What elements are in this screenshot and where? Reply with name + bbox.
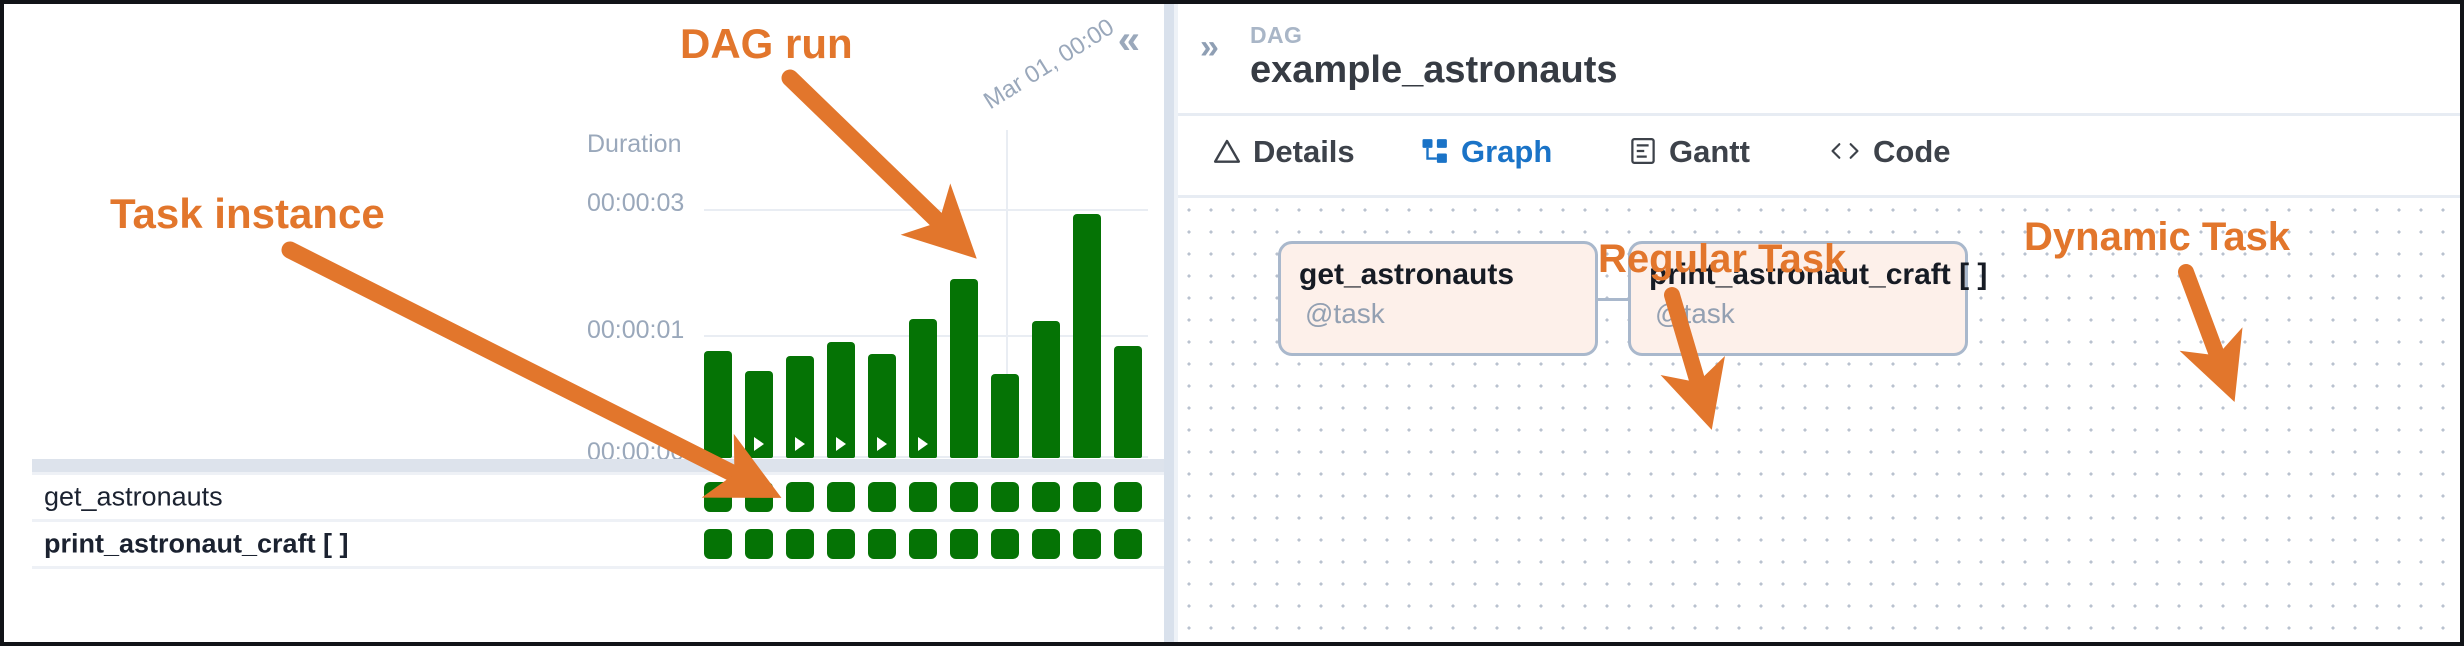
play-triangle-icon: [918, 437, 928, 451]
task-instance-square[interactable]: [909, 482, 937, 512]
dag-header: » DAG example_astronauts: [1178, 4, 2460, 116]
tab-details-label: Details: [1253, 134, 1355, 170]
y-tick-1: 00:00:01: [587, 316, 684, 345]
duration-axis-title: Duration: [587, 130, 682, 159]
task-instance-square[interactable]: [704, 529, 732, 559]
task-instance-square[interactable]: [1032, 482, 1060, 512]
graph-node-get-astronauts[interactable]: get_astronauts @task: [1278, 241, 1598, 356]
task-instance-square[interactable]: [991, 529, 1019, 559]
tab-graph[interactable]: Graph: [1420, 134, 1552, 196]
task-instance-square[interactable]: [827, 482, 855, 512]
tab-code-label: Code: [1873, 134, 1951, 170]
node-type: @task: [1305, 298, 1385, 330]
warning-triangle-icon: [1212, 134, 1242, 168]
dag-kicker-label: DAG: [1250, 22, 1302, 49]
task-instance-square[interactable]: [786, 529, 814, 559]
task-row[interactable]: print_astronaut_craft [ ]: [32, 522, 1164, 569]
task-instance-square[interactable]: [909, 529, 937, 559]
annotation-task-instance: Task instance: [110, 190, 385, 238]
panel-divider[interactable]: [1164, 4, 1178, 642]
task-instance-square[interactable]: [950, 482, 978, 512]
page-title: example_astronauts: [1250, 49, 1618, 92]
dag-run-bar[interactable]: [868, 354, 896, 458]
dag-run-bar[interactable]: [1032, 321, 1060, 458]
code-brackets-icon: [1828, 134, 1862, 168]
node-type: @task: [1655, 298, 1735, 330]
task-instance-square[interactable]: [1073, 482, 1101, 512]
dag-run-bar[interactable]: [786, 356, 814, 458]
play-triangle-icon: [754, 437, 764, 451]
task-instance-strip: [704, 529, 1155, 559]
tab-details[interactable]: Details: [1212, 134, 1355, 196]
dag-run-bar[interactable]: [827, 342, 855, 458]
task-instance-square[interactable]: [868, 529, 896, 559]
task-instance-square[interactable]: [786, 482, 814, 512]
play-triangle-icon: [836, 437, 846, 451]
task-instance-square[interactable]: [745, 482, 773, 512]
annotation-dag-run: DAG run: [680, 20, 853, 68]
task-row-label: print_astronaut_craft [ ]: [44, 529, 349, 560]
task-instance-square[interactable]: [1114, 529, 1142, 559]
dag-run-bar[interactable]: [1073, 214, 1101, 458]
tab-bar: Details Graph: [1178, 116, 2460, 198]
dag-run-bar[interactable]: [950, 279, 978, 458]
y-tick-3: 00:00:03: [587, 189, 684, 218]
task-instance-square[interactable]: [1114, 482, 1142, 512]
dag-run-bar[interactable]: [1114, 346, 1142, 458]
task-row-label: get_astronauts: [44, 482, 223, 513]
dag-run-bar[interactable]: [704, 351, 732, 458]
dag-detail-panel: » DAG example_astronauts Details: [1178, 4, 2460, 642]
annotation-dynamic-task: Dynamic Task: [2024, 215, 2290, 260]
graph-edge: [1598, 298, 1628, 301]
duration-bar-chart: [704, 130, 1156, 458]
task-instance-square[interactable]: [827, 529, 855, 559]
tab-code[interactable]: Code: [1828, 134, 1951, 196]
task-instance-strip: [704, 482, 1155, 512]
tab-gantt-label: Gantt: [1669, 134, 1750, 170]
task-instance-square[interactable]: [991, 482, 1019, 512]
tab-gantt[interactable]: Gantt: [1628, 134, 1750, 196]
graph-nodes-icon: [1420, 134, 1450, 168]
dag-run-bar[interactable]: [745, 371, 773, 458]
play-triangle-icon: [795, 437, 805, 451]
tab-graph-label: Graph: [1461, 134, 1552, 170]
expand-panel-icon[interactable]: »: [1200, 28, 1217, 67]
task-row[interactable]: get_astronauts: [32, 475, 1164, 522]
play-triangle-icon: [877, 437, 887, 451]
collapse-panel-icon[interactable]: «: [1118, 20, 1138, 60]
task-instance-square[interactable]: [1073, 529, 1101, 559]
annotation-regular-task: Regular Task: [1598, 237, 1846, 282]
task-instance-square[interactable]: [745, 529, 773, 559]
task-instance-square[interactable]: [1032, 529, 1060, 559]
node-name: get_astronauts: [1299, 258, 1514, 292]
dag-run-bar[interactable]: [991, 374, 1019, 458]
gantt-chart-icon: [1628, 134, 1658, 168]
screenshot-root: « Duration 00:00:03 00:00:01 00:00:00 Ma…: [0, 0, 2464, 646]
task-instance-square[interactable]: [704, 482, 732, 512]
x-tick-date: Mar 01, 00:00: [979, 14, 1119, 116]
task-instance-square[interactable]: [868, 482, 896, 512]
task-instance-square[interactable]: [950, 529, 978, 559]
dag-run-bar[interactable]: [909, 319, 937, 458]
grid-view-panel: « Duration 00:00:03 00:00:01 00:00:00 Ma…: [4, 4, 1164, 642]
task-rows-header-separator: [32, 459, 1164, 472]
